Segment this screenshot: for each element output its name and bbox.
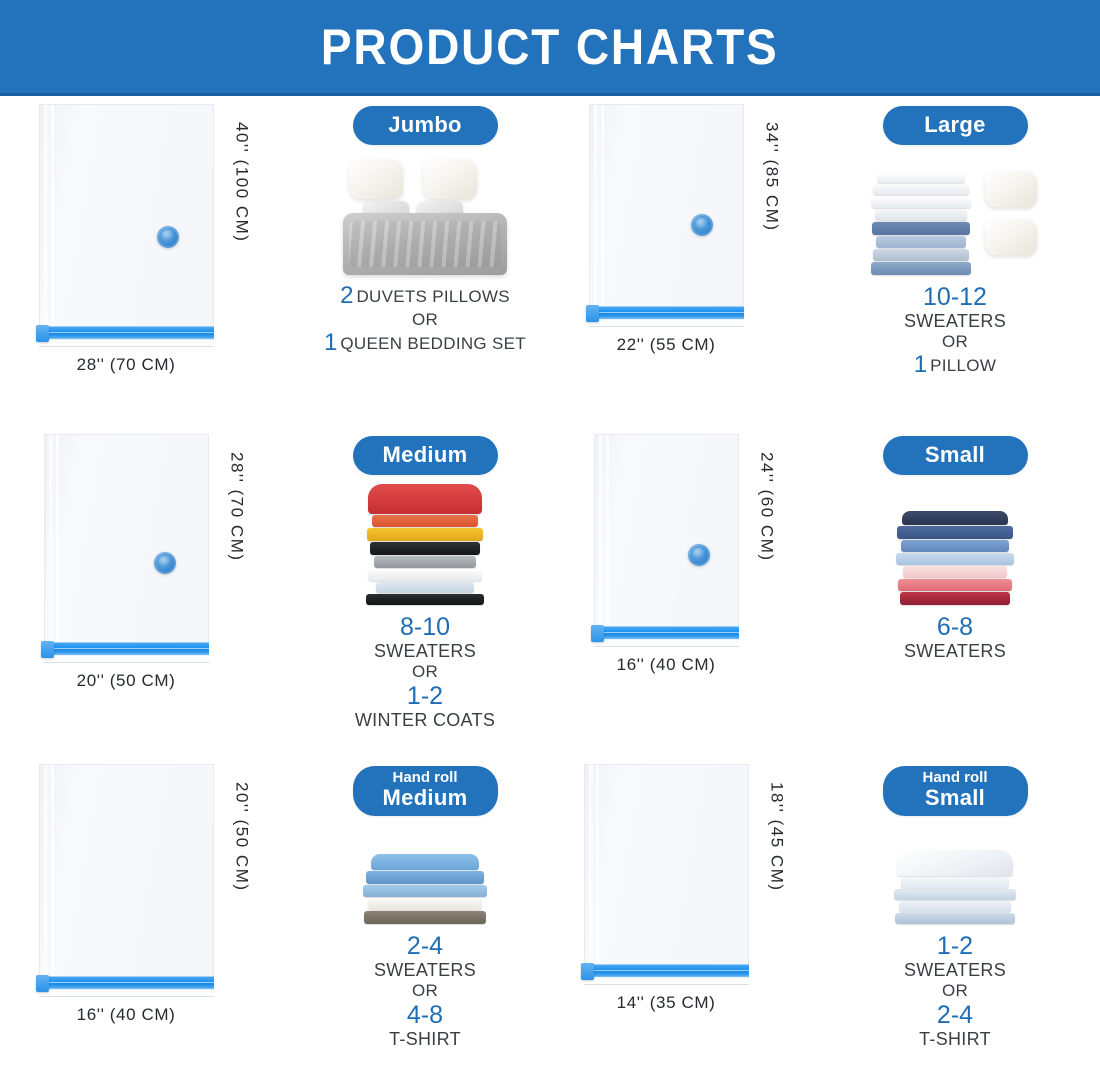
capacity-number: 1 xyxy=(324,329,337,356)
folded-linen xyxy=(876,236,966,248)
size-badge-small[interactable]: Small xyxy=(883,436,1028,475)
folded-sweater xyxy=(376,582,474,593)
folded-sweater xyxy=(901,540,1009,552)
folded-shirt xyxy=(366,871,484,884)
capacity-caption-handroll-medium: 2-4 SWEATERS OR 4-8 T-SHIRT xyxy=(374,932,476,1050)
zipper-slider-icon xyxy=(36,325,49,342)
bag-measure-baseline xyxy=(39,996,214,997)
caption-line: 6-8 xyxy=(904,613,1006,641)
bag-base xyxy=(594,639,739,643)
bag-height-label-5: 20'' (50 CM) xyxy=(232,764,252,892)
caption-line: 10-12 xyxy=(904,283,1006,311)
illustration-white-shirt-stack xyxy=(893,828,1017,924)
zipper-slider-icon xyxy=(591,625,604,642)
capacity-number: 2-4 xyxy=(937,1001,973,1029)
badge-label: Medium xyxy=(379,442,472,467)
illustration-blue-pink-sweater-stack xyxy=(896,487,1014,605)
bag-width-label-6: 14'' (35 CM) xyxy=(584,993,749,1013)
storage-bag-5 xyxy=(39,764,214,976)
pillow-icon xyxy=(423,159,477,199)
illustration-color-sweater-stack xyxy=(366,487,484,605)
capacity-number: 8-10 xyxy=(400,613,450,641)
capacity-or: OR xyxy=(942,332,968,351)
bag-sheen xyxy=(599,435,606,626)
folded-linen xyxy=(873,184,969,195)
folded-shirt xyxy=(894,889,1016,900)
capacity-number: 1-2 xyxy=(407,682,443,710)
caption-line: T-SHIRT xyxy=(904,1029,1006,1050)
zipper-seal-4 xyxy=(594,626,739,639)
capacity-caption-handroll-small: 1-2 SWEATERS OR 2-4 T-SHIRT xyxy=(904,932,1006,1050)
folded-sweater xyxy=(902,511,1008,525)
caption-line: WINTER COATS xyxy=(355,710,495,731)
folded-linen xyxy=(871,262,971,275)
product-grid: 28'' (70 CM) 40'' (100 CM) Jumbo 2DUVETS… xyxy=(0,96,1100,1086)
caption-line: 8-10 xyxy=(355,613,495,641)
folded-sweater xyxy=(366,594,484,605)
bag-measure-baseline xyxy=(39,346,214,347)
valve-icon xyxy=(691,214,713,236)
capacity-word: T-SHIRT xyxy=(389,1029,461,1049)
folded-linen xyxy=(871,196,971,208)
bag-base xyxy=(589,319,744,323)
badge-label: Jumbo xyxy=(379,112,472,137)
bag-sheen xyxy=(49,435,56,642)
caption-line: OR xyxy=(355,662,495,682)
capacity-number: 6-8 xyxy=(937,613,973,641)
caption-line: SWEATERS xyxy=(904,960,1006,981)
size-badge-handroll-medium[interactable]: Hand roll Medium xyxy=(353,766,498,816)
bag-base xyxy=(39,989,214,993)
bag-measure-baseline xyxy=(589,326,744,327)
bag-width-label-1: 28'' (70 CM) xyxy=(39,355,214,375)
illustration-bed-duvet-pillows xyxy=(335,157,515,275)
bag-base xyxy=(584,977,749,981)
badge-label: Medium xyxy=(379,785,472,810)
bag-base xyxy=(39,339,214,343)
capacity-word: WINTER COATS xyxy=(355,710,495,730)
capacity-or: OR xyxy=(412,662,438,681)
folded-sweater xyxy=(374,556,476,568)
storage-bag-2 xyxy=(589,104,744,306)
capacity-word: T-SHIRT xyxy=(919,1029,991,1049)
bag-height-label-3: 28'' (70 CM) xyxy=(227,434,247,562)
caption-line: OR xyxy=(904,332,1006,352)
folded-linen xyxy=(875,209,967,221)
bag-height-dim-3: 28'' (70 CM) xyxy=(219,434,247,659)
capacity-number: 10-12 xyxy=(923,283,987,311)
valve-icon xyxy=(154,552,176,574)
bag-sheen-inner xyxy=(51,105,54,326)
size-badge-large[interactable]: Large xyxy=(883,106,1028,145)
capacity-word: PILLOW xyxy=(930,356,996,375)
page-title: PRODUCT CHARTS xyxy=(321,18,779,76)
bag-measure-baseline xyxy=(44,662,209,663)
capacity-caption-jumbo: 2DUVETS PILLOWS OR 1QUEEN BEDDING SET xyxy=(324,283,526,357)
bag-sheen xyxy=(594,105,601,306)
capacity-number: 1-2 xyxy=(937,932,973,960)
size-info-handroll-medium: Hand roll Medium 2-4 SWEATERS xyxy=(290,756,560,1086)
bag-sheen-inner xyxy=(596,765,599,964)
bag-sheen xyxy=(44,105,51,326)
capacity-number: 4-8 xyxy=(407,1001,443,1029)
bag-width-label-2: 22'' (55 CM) xyxy=(589,335,744,355)
zipper-slider-icon xyxy=(581,963,594,980)
folded-sweater xyxy=(368,484,482,514)
badge-label: Large xyxy=(909,112,1002,137)
bag-cell-1: 28'' (70 CM) 40'' (100 CM) xyxy=(0,96,290,426)
caption-line: 4-8 xyxy=(374,1001,476,1029)
page-header: PRODUCT CHARTS xyxy=(0,0,1100,96)
bag-sheen-inner xyxy=(606,435,609,626)
duvet-icon xyxy=(343,213,507,275)
folded-sweater xyxy=(897,526,1013,539)
capacity-word: SWEATERS xyxy=(904,960,1006,980)
bag-width-label-3: 20'' (50 CM) xyxy=(44,671,209,691)
folded-sweater xyxy=(896,553,1014,565)
capacity-or: OR xyxy=(412,981,438,1000)
capacity-word: SWEATERS xyxy=(374,641,476,661)
capacity-or: OR xyxy=(412,310,438,329)
bag-height-dim-1: 40'' (100 CM) xyxy=(224,104,252,343)
caption-line: OR xyxy=(324,310,526,330)
bag-height-label-2: 34'' (85 CM) xyxy=(762,104,782,232)
bag-height-dim-4: 24'' (60 CM) xyxy=(749,434,777,643)
capacity-word: SWEATERS xyxy=(904,311,1006,331)
zipper-seal-2 xyxy=(589,306,744,319)
badge-prefix-label: Hand roll xyxy=(909,770,1002,786)
folded-sweater xyxy=(898,579,1012,591)
caption-line: SWEATERS xyxy=(374,960,476,981)
bag-height-dim-2: 34'' (85 CM) xyxy=(754,104,782,323)
illustration-linen-stack-pillows xyxy=(865,157,1045,275)
folded-sweater xyxy=(370,542,480,555)
folded-shirt xyxy=(364,911,486,924)
bag-height-dim-5: 20'' (50 CM) xyxy=(224,764,252,993)
caption-line: SWEATERS xyxy=(355,641,495,662)
storage-bag-6 xyxy=(584,764,749,964)
zipper-seal-6 xyxy=(584,964,749,977)
badge-label: Small xyxy=(909,442,1002,467)
capacity-number: 1 xyxy=(914,351,927,378)
capacity-number: 2 xyxy=(340,282,353,309)
bag-sheen-inner xyxy=(56,435,59,642)
capacity-word: SWEATERS xyxy=(904,641,1006,661)
storage-bag-3 xyxy=(44,434,209,642)
size-info-medium: Medium 8-10 SWEATERS xyxy=(290,426,560,756)
caption-line: OR xyxy=(374,981,476,1001)
illustration-folded-shirt-stack xyxy=(363,828,487,924)
folded-shirt xyxy=(899,901,1011,912)
folded-sweater xyxy=(372,515,478,527)
folded-shirt xyxy=(368,898,482,910)
caption-line: 1PILLOW xyxy=(904,352,1006,379)
folded-shirt xyxy=(363,885,487,897)
size-info-jumbo: Jumbo 2DUVETS PILLOWS OR 1QUEEN BEDDING … xyxy=(290,96,560,426)
storage-bag-1 xyxy=(39,104,214,326)
bag-height-dim-6: 18'' (45 CM) xyxy=(759,764,787,981)
zipper-slider-icon xyxy=(586,305,599,322)
bag-cell-5: 16'' (40 CM) 20'' (50 CM) xyxy=(0,756,290,1086)
capacity-word: QUEEN BEDDING SET xyxy=(340,334,526,353)
storage-bag-4 xyxy=(594,434,739,626)
bag-measure-baseline xyxy=(584,984,749,985)
caption-line: 1-2 xyxy=(355,682,495,710)
folded-sweater xyxy=(368,569,482,581)
size-info-large: Large 10-12 xyxy=(810,96,1100,426)
zipper-slider-icon xyxy=(41,641,54,658)
valve-icon xyxy=(157,226,179,248)
zipper-slider-icon xyxy=(36,975,49,992)
bag-sheen-inner xyxy=(601,105,604,306)
caption-line: SWEATERS xyxy=(904,641,1006,662)
badge-label: Small xyxy=(909,785,1002,810)
size-badge-medium[interactable]: Medium xyxy=(353,436,498,475)
caption-line: OR xyxy=(904,981,1006,1001)
folded-shirt xyxy=(897,850,1013,876)
caption-line: 2-4 xyxy=(904,1001,1006,1029)
valve-icon xyxy=(688,544,710,566)
caption-line: 1QUEEN BEDDING SET xyxy=(324,330,526,357)
bag-base xyxy=(44,655,209,659)
folded-shirt xyxy=(371,854,479,870)
folded-shirt xyxy=(901,877,1009,888)
capacity-number: 2-4 xyxy=(407,932,443,960)
bag-sheen xyxy=(44,765,51,976)
bag-sheen xyxy=(589,765,596,964)
bag-width-label-4: 16'' (40 CM) xyxy=(594,655,739,675)
capacity-caption-small: 6-8 SWEATERS xyxy=(904,613,1006,662)
size-badge-handroll-small[interactable]: Hand roll Small xyxy=(883,766,1028,816)
bag-cell-6: 14'' (35 CM) 18'' (45 CM) xyxy=(560,756,810,1086)
zipper-seal-3 xyxy=(44,642,209,655)
caption-line: SWEATERS xyxy=(904,311,1006,332)
bag-height-label-6: 18'' (45 CM) xyxy=(767,764,787,892)
caption-line: T-SHIRT xyxy=(374,1029,476,1050)
bag-cell-4: 16'' (40 CM) 24'' (60 CM) xyxy=(560,426,810,756)
caption-line: 1-2 xyxy=(904,932,1006,960)
bag-height-label-4: 24'' (60 CM) xyxy=(757,434,777,562)
folded-linen xyxy=(873,249,969,261)
capacity-caption-medium: 8-10 SWEATERS OR 1-2 WINTER COATS xyxy=(355,613,495,731)
badge-prefix-label: Hand roll xyxy=(379,770,472,786)
pillow-icon xyxy=(985,219,1037,255)
zipper-seal-5 xyxy=(39,976,214,989)
size-info-handroll-small: Hand roll Small 1-2 SWEATERS xyxy=(810,756,1100,1086)
folded-linen xyxy=(872,222,970,235)
capacity-word: SWEATERS xyxy=(374,960,476,980)
capacity-word: DUVETS PILLOWS xyxy=(356,287,509,306)
capacity-caption-large: 10-12 SWEATERS OR 1PILLOW xyxy=(904,283,1006,379)
pillow-icon xyxy=(985,171,1037,207)
caption-line: 2DUVETS PILLOWS xyxy=(324,283,526,310)
bag-height-label-1: 40'' (100 CM) xyxy=(232,104,252,242)
pillow-icon xyxy=(349,159,403,199)
size-badge-jumbo[interactable]: Jumbo xyxy=(353,106,498,145)
folded-sweater xyxy=(903,566,1007,578)
bag-cell-2: 22'' (55 CM) 34'' (85 CM) xyxy=(560,96,810,426)
caption-line: 2-4 xyxy=(374,932,476,960)
zipper-seal-1 xyxy=(39,326,214,339)
capacity-or: OR xyxy=(942,981,968,1000)
bag-measure-baseline xyxy=(594,646,739,647)
bag-width-label-5: 16'' (40 CM) xyxy=(39,1005,214,1025)
size-info-small: Small 6-8 SWEATERS xyxy=(810,426,1100,756)
folded-shirt xyxy=(895,913,1015,924)
folded-linen xyxy=(877,172,965,183)
folded-sweater xyxy=(367,528,483,541)
folded-sweater xyxy=(900,592,1010,605)
bag-sheen-inner xyxy=(51,765,54,976)
bag-cell-3: 20'' (50 CM) 28'' (70 CM) xyxy=(0,426,290,756)
